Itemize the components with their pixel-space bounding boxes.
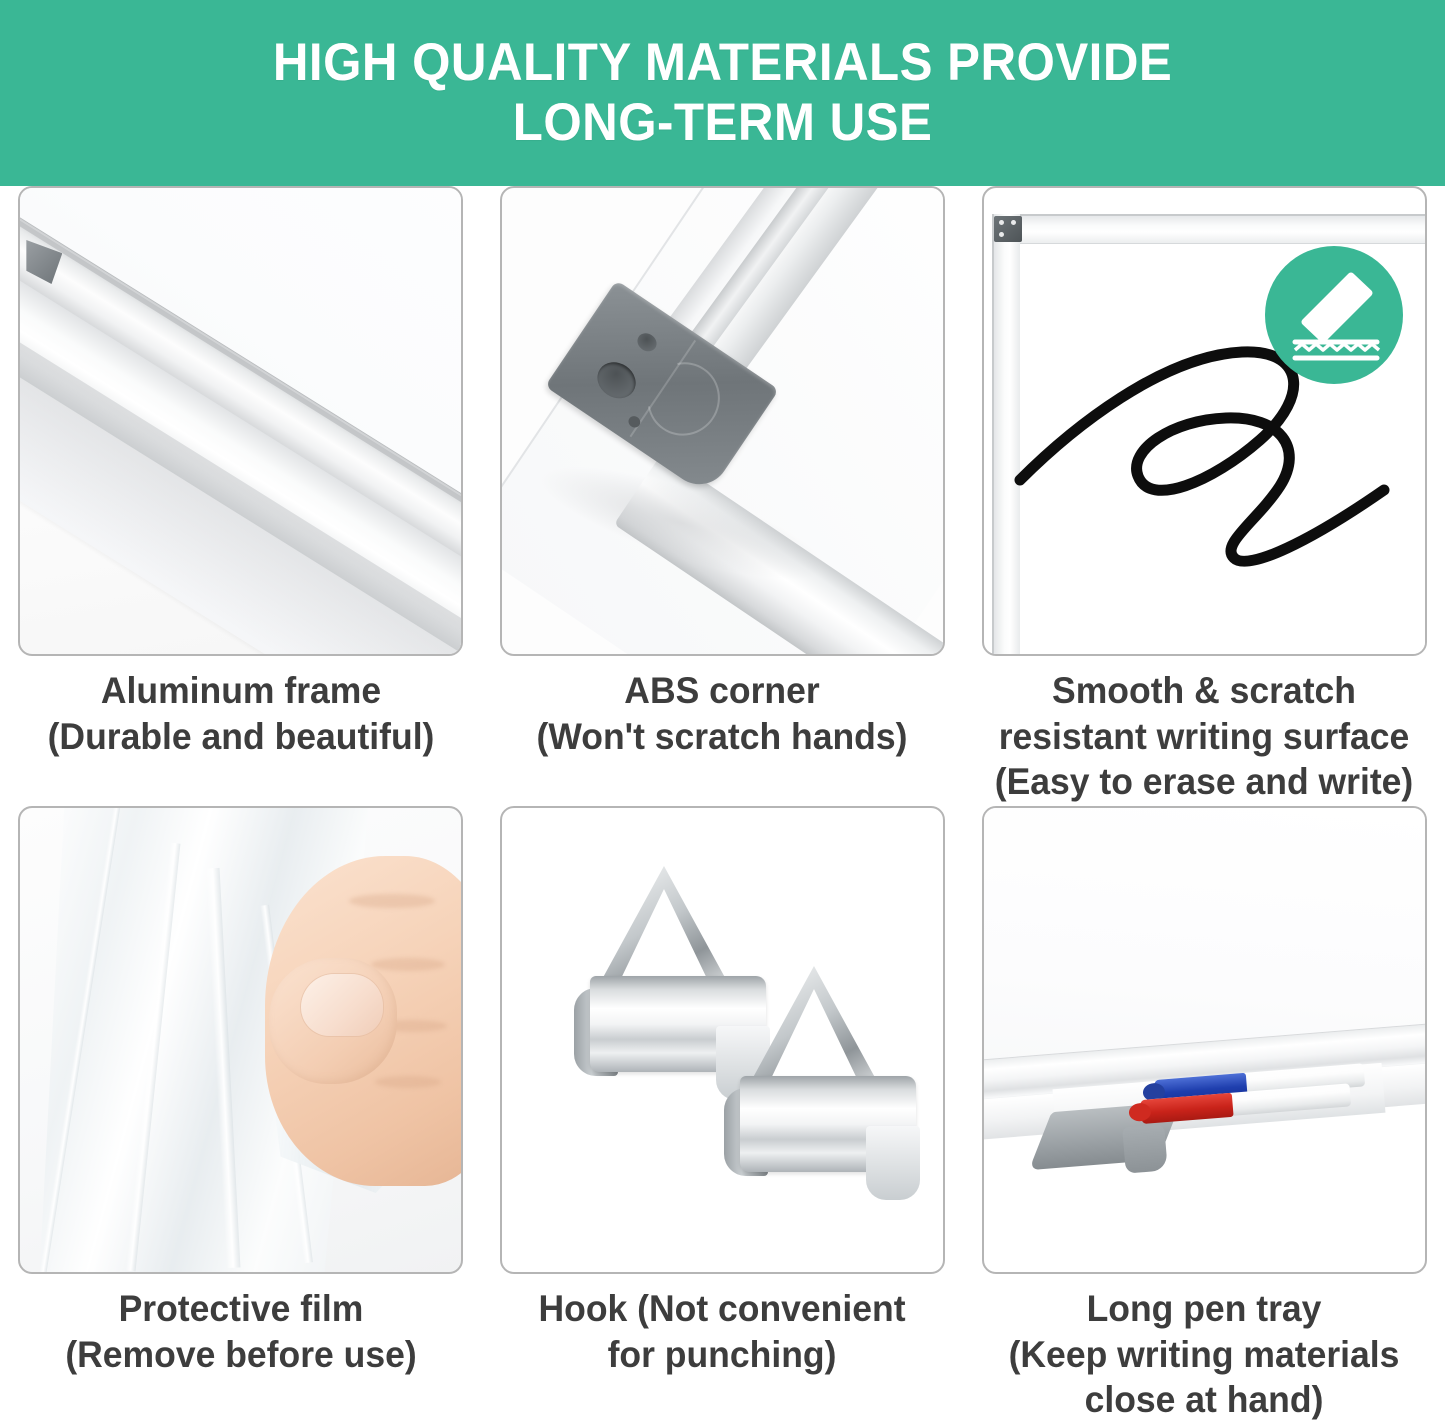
hook-front-fold bbox=[866, 1126, 920, 1200]
caption-line: (Keep writing materials bbox=[979, 1332, 1430, 1378]
aluminum-frame-top bbox=[992, 214, 1427, 244]
product-feature-infographic: HIGH QUALITY MATERIALS PROVIDE LONG-TERM… bbox=[0, 0, 1445, 1414]
caption-protective-film: Protective film (Remove before use) bbox=[15, 1286, 466, 1377]
finger-crease bbox=[371, 958, 445, 971]
screw-hole-tiny bbox=[626, 414, 642, 430]
finger-crease bbox=[349, 894, 435, 908]
caption-line: Aluminum frame bbox=[15, 668, 466, 714]
feature-image-abs-corner bbox=[500, 186, 945, 656]
caption-abs-corner: ABS corner (Won't scratch hands) bbox=[497, 668, 948, 759]
feature-image-pen-tray bbox=[982, 806, 1427, 1274]
finger-crease bbox=[375, 1076, 441, 1088]
feature-cell-pen-tray: Long pen tray (Keep writing materials cl… bbox=[963, 806, 1445, 1414]
caption-line: Long pen tray bbox=[979, 1286, 1430, 1332]
caption-line: (Easy to erase and write) bbox=[979, 759, 1430, 805]
feature-image-aluminum-frame bbox=[18, 186, 463, 656]
scratch-resistant-badge bbox=[1265, 246, 1403, 384]
feature-image-hook bbox=[500, 806, 945, 1274]
caption-writing-surface: Smooth & scratch resistant writing surfa… bbox=[979, 668, 1430, 805]
caption-pen-tray: Long pen tray (Keep writing materials cl… bbox=[979, 1286, 1430, 1423]
header-banner: HIGH QUALITY MATERIALS PROVIDE LONG-TERM… bbox=[0, 0, 1445, 186]
caption-line: ABS corner bbox=[497, 668, 948, 714]
caption-hook: Hook (Not convenient for punching) bbox=[497, 1286, 948, 1377]
feature-cell-hook: Hook (Not convenient for punching) bbox=[482, 806, 964, 1414]
banner-title-line-2: LONG-TERM USE bbox=[513, 93, 933, 153]
pen-tray-end-cap bbox=[1122, 1124, 1168, 1173]
thumbnail bbox=[301, 974, 383, 1036]
feature-cell-abs-corner: ABS corner (Won't scratch hands) bbox=[482, 186, 964, 806]
hook-wire-loop bbox=[594, 866, 734, 994]
banner-title-line-1: HIGH QUALITY MATERIALS PROVIDE bbox=[273, 33, 1172, 93]
caption-line: (Won't scratch hands) bbox=[497, 714, 948, 760]
feature-image-protective-film bbox=[18, 806, 463, 1274]
pen-on-surface-icon bbox=[1265, 246, 1403, 384]
corner-arc-detail bbox=[633, 348, 734, 450]
caption-line: Hook (Not convenient bbox=[497, 1286, 948, 1332]
caption-line: for punching) bbox=[497, 1332, 948, 1378]
caption-aluminum-frame: Aluminum frame (Durable and beautiful) bbox=[15, 668, 466, 759]
feature-cell-writing-surface: Smooth & scratch resistant writing surfa… bbox=[963, 186, 1445, 806]
feature-grid: Aluminum frame (Durable and beautiful) bbox=[0, 186, 1445, 1414]
screw-hole-small bbox=[634, 330, 660, 355]
caption-line: (Remove before use) bbox=[15, 1332, 466, 1378]
feature-cell-aluminum-frame: Aluminum frame (Durable and beautiful) bbox=[0, 186, 482, 806]
caption-line: (Durable and beautiful) bbox=[15, 714, 466, 760]
caption-line: Protective film bbox=[15, 1286, 466, 1332]
screw-hole-large bbox=[590, 355, 642, 406]
feature-image-writing-surface bbox=[982, 186, 1427, 656]
caption-line: Smooth & scratch bbox=[979, 668, 1430, 714]
caption-line: close at hand) bbox=[979, 1377, 1430, 1423]
feature-cell-protective-film: Protective film (Remove before use) bbox=[0, 806, 482, 1414]
mounting-bracket-icon bbox=[994, 216, 1022, 242]
caption-line: resistant writing surface bbox=[979, 714, 1430, 760]
